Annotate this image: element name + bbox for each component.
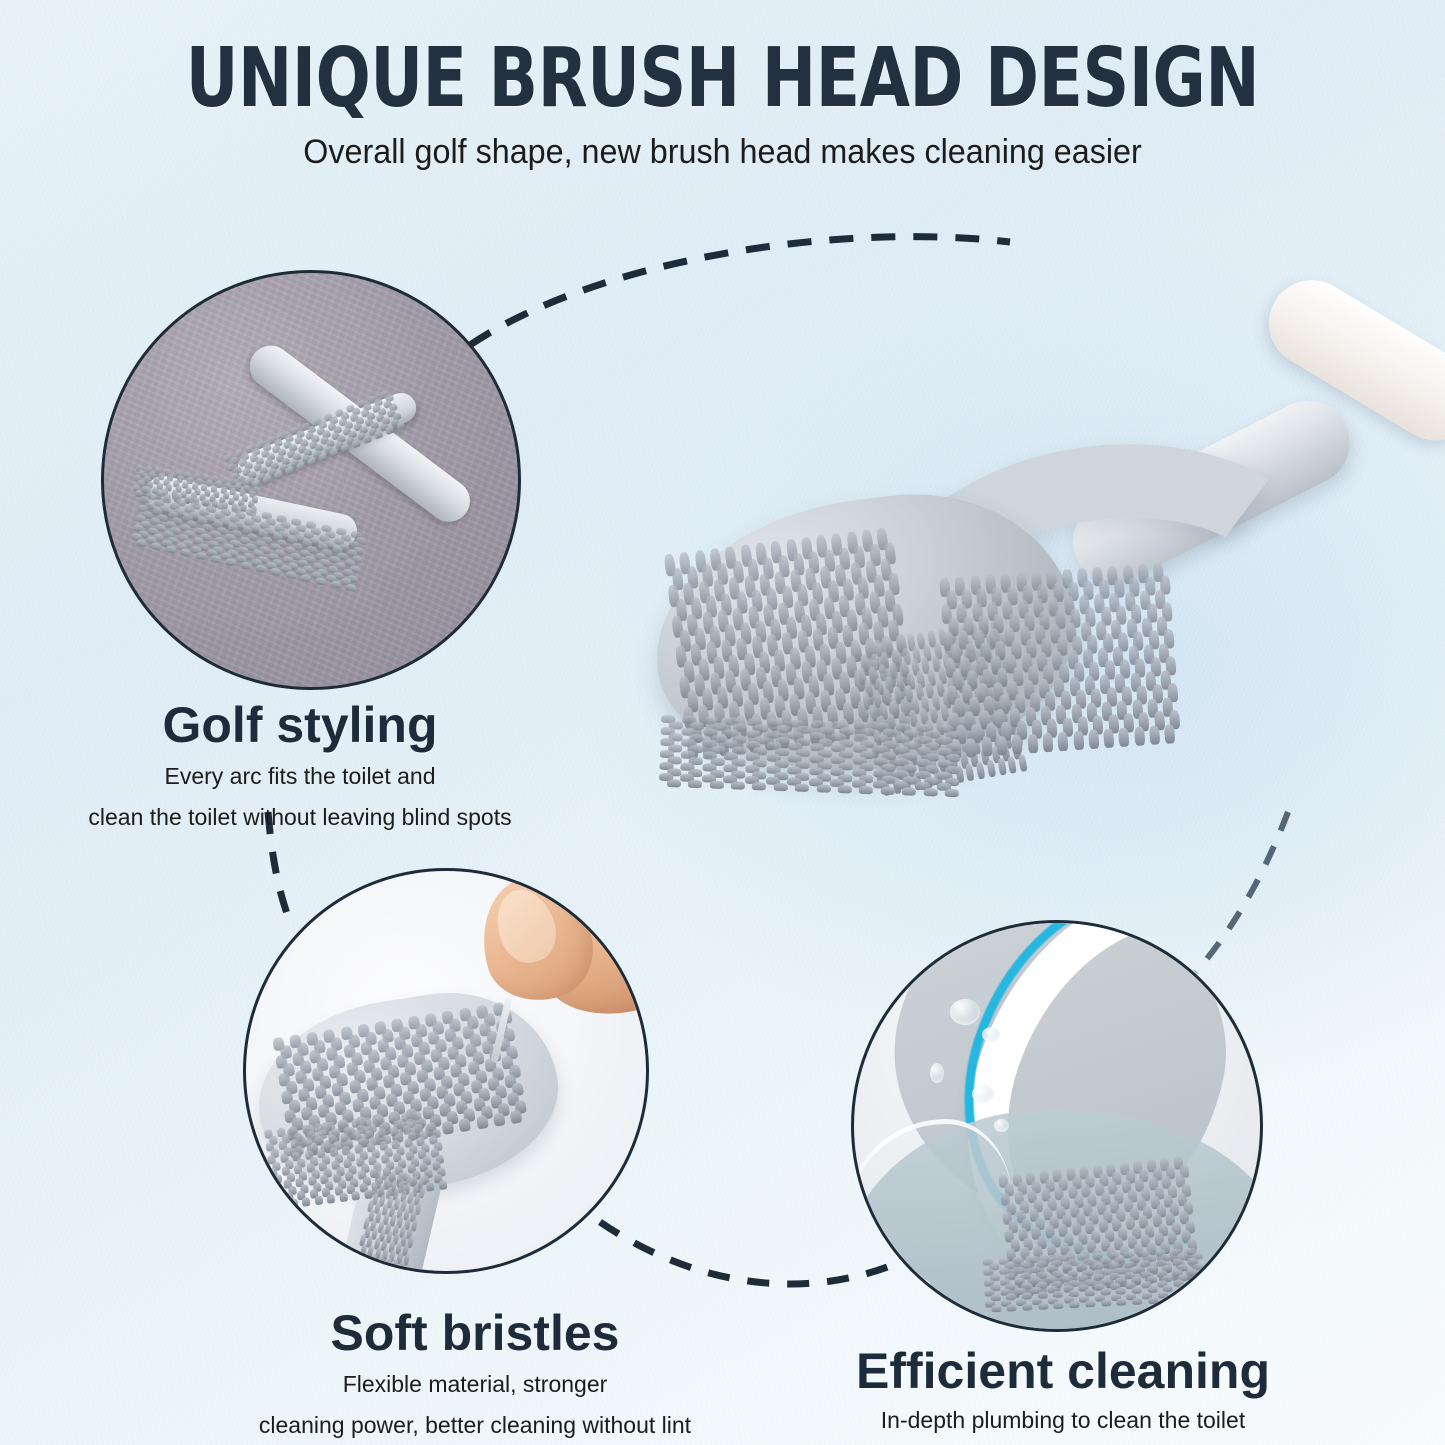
bristle [1007, 755, 1017, 773]
callout-description-line1: Every arc fits the toilet and [60, 762, 540, 791]
bristle [1118, 727, 1129, 747]
bristle [399, 1269, 407, 1274]
bristle [1054, 1301, 1064, 1309]
bristle [1085, 1300, 1095, 1308]
callout-description-line1: Flexible material, stronger [215, 1370, 735, 1399]
bristle [509, 1110, 522, 1125]
bristle [300, 574, 311, 583]
bristle [302, 1196, 311, 1206]
bristle [816, 784, 830, 792]
bristle [135, 539, 146, 548]
bristle [880, 787, 894, 795]
bristle [210, 555, 221, 564]
bristle [366, 1271, 374, 1274]
bristle [976, 761, 986, 779]
bristle [339, 1192, 348, 1202]
bristle [1116, 1298, 1126, 1306]
bristle [1088, 729, 1099, 749]
callout-title: Golf styling [60, 700, 540, 750]
page-subtitle: Overall golf shape, new brush head makes… [36, 134, 1409, 171]
callout-soft-bristles: Soft bristles Flexible material, stronge… [215, 1308, 735, 1441]
bristle [285, 466, 295, 475]
bristle [327, 1193, 336, 1203]
bristle [392, 1268, 400, 1274]
bristle [859, 786, 873, 794]
bristle [270, 568, 281, 577]
bristle-pad-edge [983, 1247, 1205, 1310]
bristle-pad-edge [659, 715, 961, 795]
callout-description-line2: clean the toilet without leaving blind s… [60, 803, 540, 832]
water-droplet [950, 999, 980, 1025]
callout-golf-styling: Golf styling Every arc fits the toilet a… [60, 700, 540, 833]
callout-efficient-cleaning: Efficient cleaning In-depth plumbing to … [838, 1346, 1288, 1435]
bristle [255, 564, 266, 573]
bristle [195, 552, 206, 561]
bristle-pad-right [939, 562, 1181, 753]
bristle [307, 457, 317, 466]
golf-styling-photo [101, 270, 521, 690]
bristle [165, 545, 176, 554]
bristle [991, 1305, 1001, 1313]
water-splash [851, 1119, 1012, 1234]
bristle [438, 1180, 447, 1190]
bristle [277, 1199, 286, 1209]
bristle [709, 781, 723, 789]
bristle [274, 471, 284, 480]
water-droplet [982, 1027, 1000, 1042]
bristle [752, 782, 766, 790]
bristle [1069, 1301, 1079, 1309]
bristle [1132, 1297, 1142, 1305]
bristle [966, 738, 977, 758]
bristle [1164, 724, 1175, 744]
bristle [1179, 1295, 1189, 1303]
efficient-cleaning-photo [851, 920, 1263, 1332]
bristle [289, 1198, 298, 1208]
bristle [373, 1272, 381, 1274]
bristle [1057, 731, 1068, 751]
callout-title: Soft bristles [215, 1308, 735, 1358]
bristle [1103, 728, 1114, 748]
water-droplet [994, 1119, 1009, 1132]
bristle [351, 1190, 360, 1200]
infographic-canvas: UNIQUE BRUSH HEAD DESIGN Overall golf sh… [0, 0, 1445, 1445]
bristle [459, 1118, 472, 1133]
bristle [1101, 1299, 1111, 1307]
bristle [997, 757, 1007, 775]
bristle [1195, 1294, 1205, 1302]
bristle [240, 561, 251, 570]
bristle [1042, 732, 1053, 752]
bristle [225, 558, 236, 567]
bristle [329, 448, 339, 457]
bristle [902, 787, 916, 795]
bristle [345, 583, 356, 592]
bristle [1148, 1296, 1158, 1304]
bristle [1134, 726, 1145, 746]
bristle [1012, 734, 1023, 754]
bristle [965, 763, 975, 781]
main-product-photo [615, 250, 1445, 870]
bristle [731, 781, 745, 789]
water-droplet [914, 1279, 931, 1294]
bristle [1027, 733, 1038, 753]
bristle [1022, 1303, 1032, 1311]
bristle [358, 1269, 366, 1274]
bristle [923, 788, 937, 796]
bristle [398, 1260, 406, 1273]
bristle [442, 1120, 455, 1135]
bristle [180, 548, 191, 557]
bristle [377, 1265, 385, 1274]
callout-description-line2: cleaning power, better cleaning without … [215, 1411, 735, 1440]
bristle [945, 789, 959, 797]
callout-title: Efficient cleaning [838, 1346, 1288, 1396]
bristle [330, 580, 341, 589]
bristle [795, 784, 809, 792]
bristle [370, 1263, 378, 1274]
bristle [476, 1115, 489, 1130]
bristle [1163, 1296, 1173, 1304]
bristle [1073, 730, 1084, 750]
bristle [838, 785, 852, 793]
bristle [363, 1261, 371, 1274]
water-droplet [930, 1063, 944, 1083]
bristle [426, 1181, 435, 1191]
toilet-cleaning-artwork [854, 923, 1260, 1329]
bristle [996, 735, 1007, 755]
soft-bristle-artwork [246, 871, 646, 1271]
bristle [150, 542, 161, 551]
bristle [315, 577, 326, 586]
page-title: UNIQUE BRUSH HEAD DESIGN [87, 38, 1359, 120]
bristle [296, 462, 306, 471]
bristle [1038, 1302, 1048, 1310]
water-droplet [972, 1085, 994, 1103]
bristle [492, 1112, 505, 1127]
bristle [666, 779, 680, 787]
bristle [986, 759, 996, 777]
bristle [773, 783, 787, 791]
bristle [981, 737, 992, 757]
golf-brush-artwork [104, 273, 518, 687]
callout-description-line1: In-depth plumbing to clean the toilet [838, 1406, 1288, 1435]
bristle [385, 1266, 393, 1274]
bristle [262, 475, 272, 484]
bristle [688, 780, 702, 788]
bristle [314, 1195, 323, 1205]
bristle [318, 453, 328, 462]
bristle [1006, 1304, 1016, 1312]
bristle [1149, 725, 1160, 745]
soft-bristles-photo [243, 868, 649, 1274]
bristle [285, 571, 296, 580]
